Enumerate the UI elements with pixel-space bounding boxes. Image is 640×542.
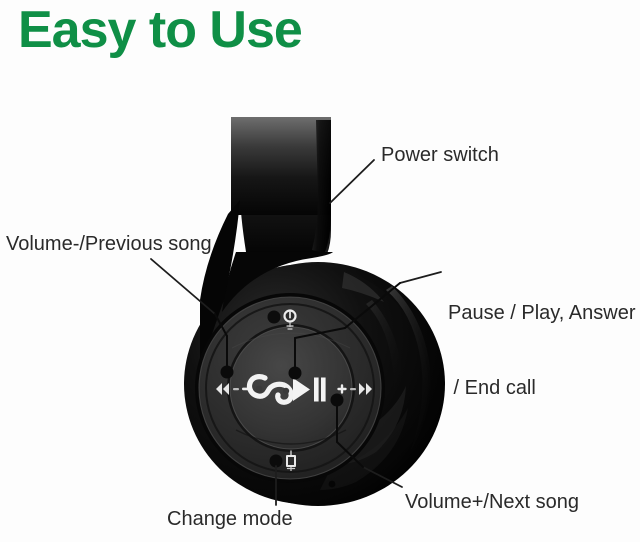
illustration-canvas: Easy to Use Power switch Volume-/Previou… [0,0,640,542]
page-title: Easy to Use [18,2,302,59]
pointer-play-tail2 [345,283,400,328]
callout-change-mode: Change mode [167,507,293,532]
callout-pause-play-line2: / End call [448,376,636,401]
leader-power [330,160,374,203]
callout-power-switch: Power switch [381,143,499,168]
pointer-volume-up-tail [337,442,363,467]
callout-volume-up: Volume+/Next song [405,490,579,515]
leader-pause-play [400,272,441,283]
pointer-play-tail [295,328,345,338]
pointer-volume-down-tail [215,314,227,336]
pointer-dot-volume-up [331,394,344,407]
leader-volume-plus [363,467,402,487]
callout-pause-play: Pause / Play, Answer / End call [448,251,636,451]
pointer-dot-volume-down [221,366,234,379]
pointer-dot-play [289,367,302,380]
callout-pause-play-line1: Pause / Play, Answer [448,301,636,326]
callout-volume-down: Volume-/Previous song [6,232,212,257]
leader-volume-minus [151,259,215,314]
